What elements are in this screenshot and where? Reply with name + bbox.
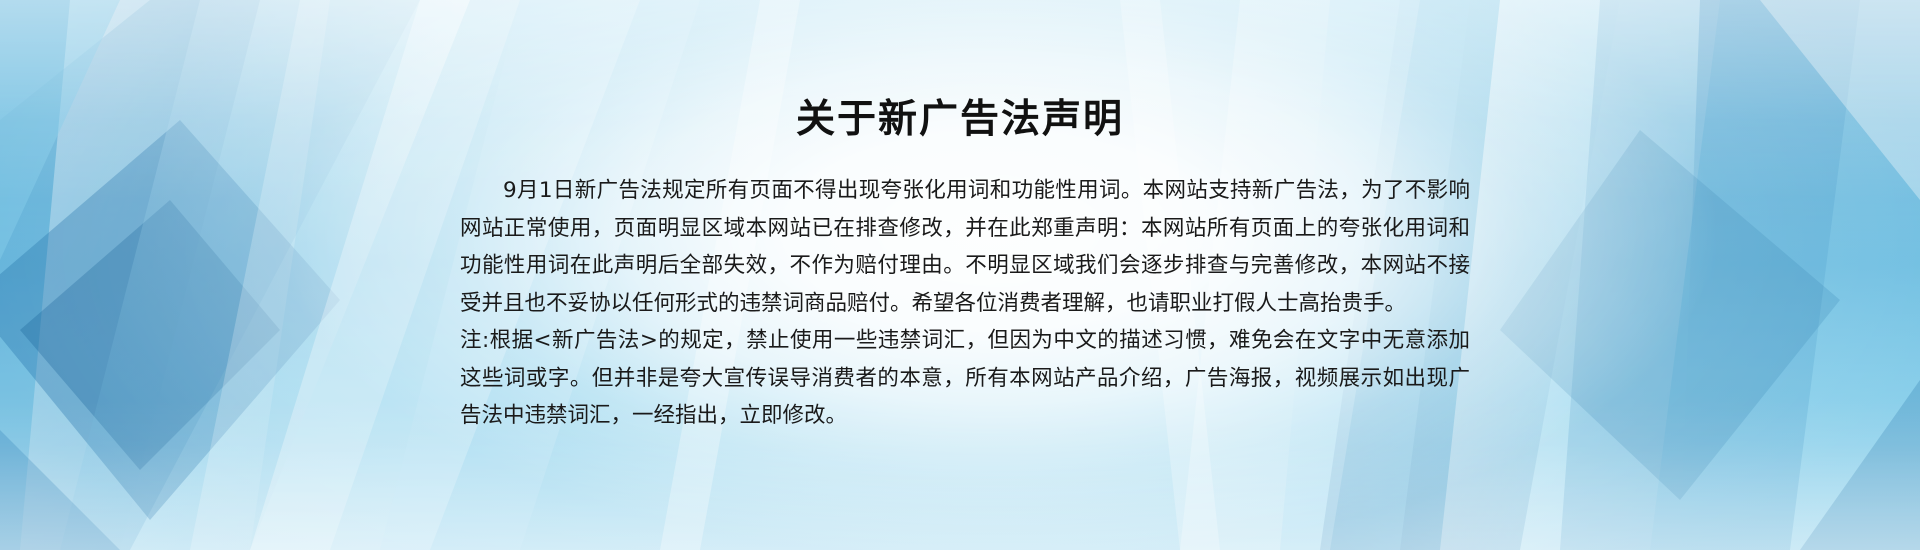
statement-paragraph-1: 9月1日新广告法规定所有页面不得出现夸张化用词和功能性用词。本网站支持新广告法，…	[460, 172, 1470, 322]
statement-paragraph-2: 注:根据<新广告法>的规定，禁止使用一些违禁词汇，但因为中文的描述习惯，难免会在…	[460, 322, 1470, 435]
statement-body: 9月1日新广告法规定所有页面不得出现夸张化用词和功能性用词。本网站支持新广告法，…	[460, 172, 1470, 435]
advertising-law-statement-banner: 关于新广告法声明 9月1日新广告法规定所有页面不得出现夸张化用词和功能性用词。本…	[0, 0, 1920, 550]
page-title: 关于新广告法声明	[0, 88, 1920, 144]
statement-content: 关于新广告法声明 9月1日新广告法规定所有页面不得出现夸张化用词和功能性用词。本…	[0, 0, 1920, 550]
